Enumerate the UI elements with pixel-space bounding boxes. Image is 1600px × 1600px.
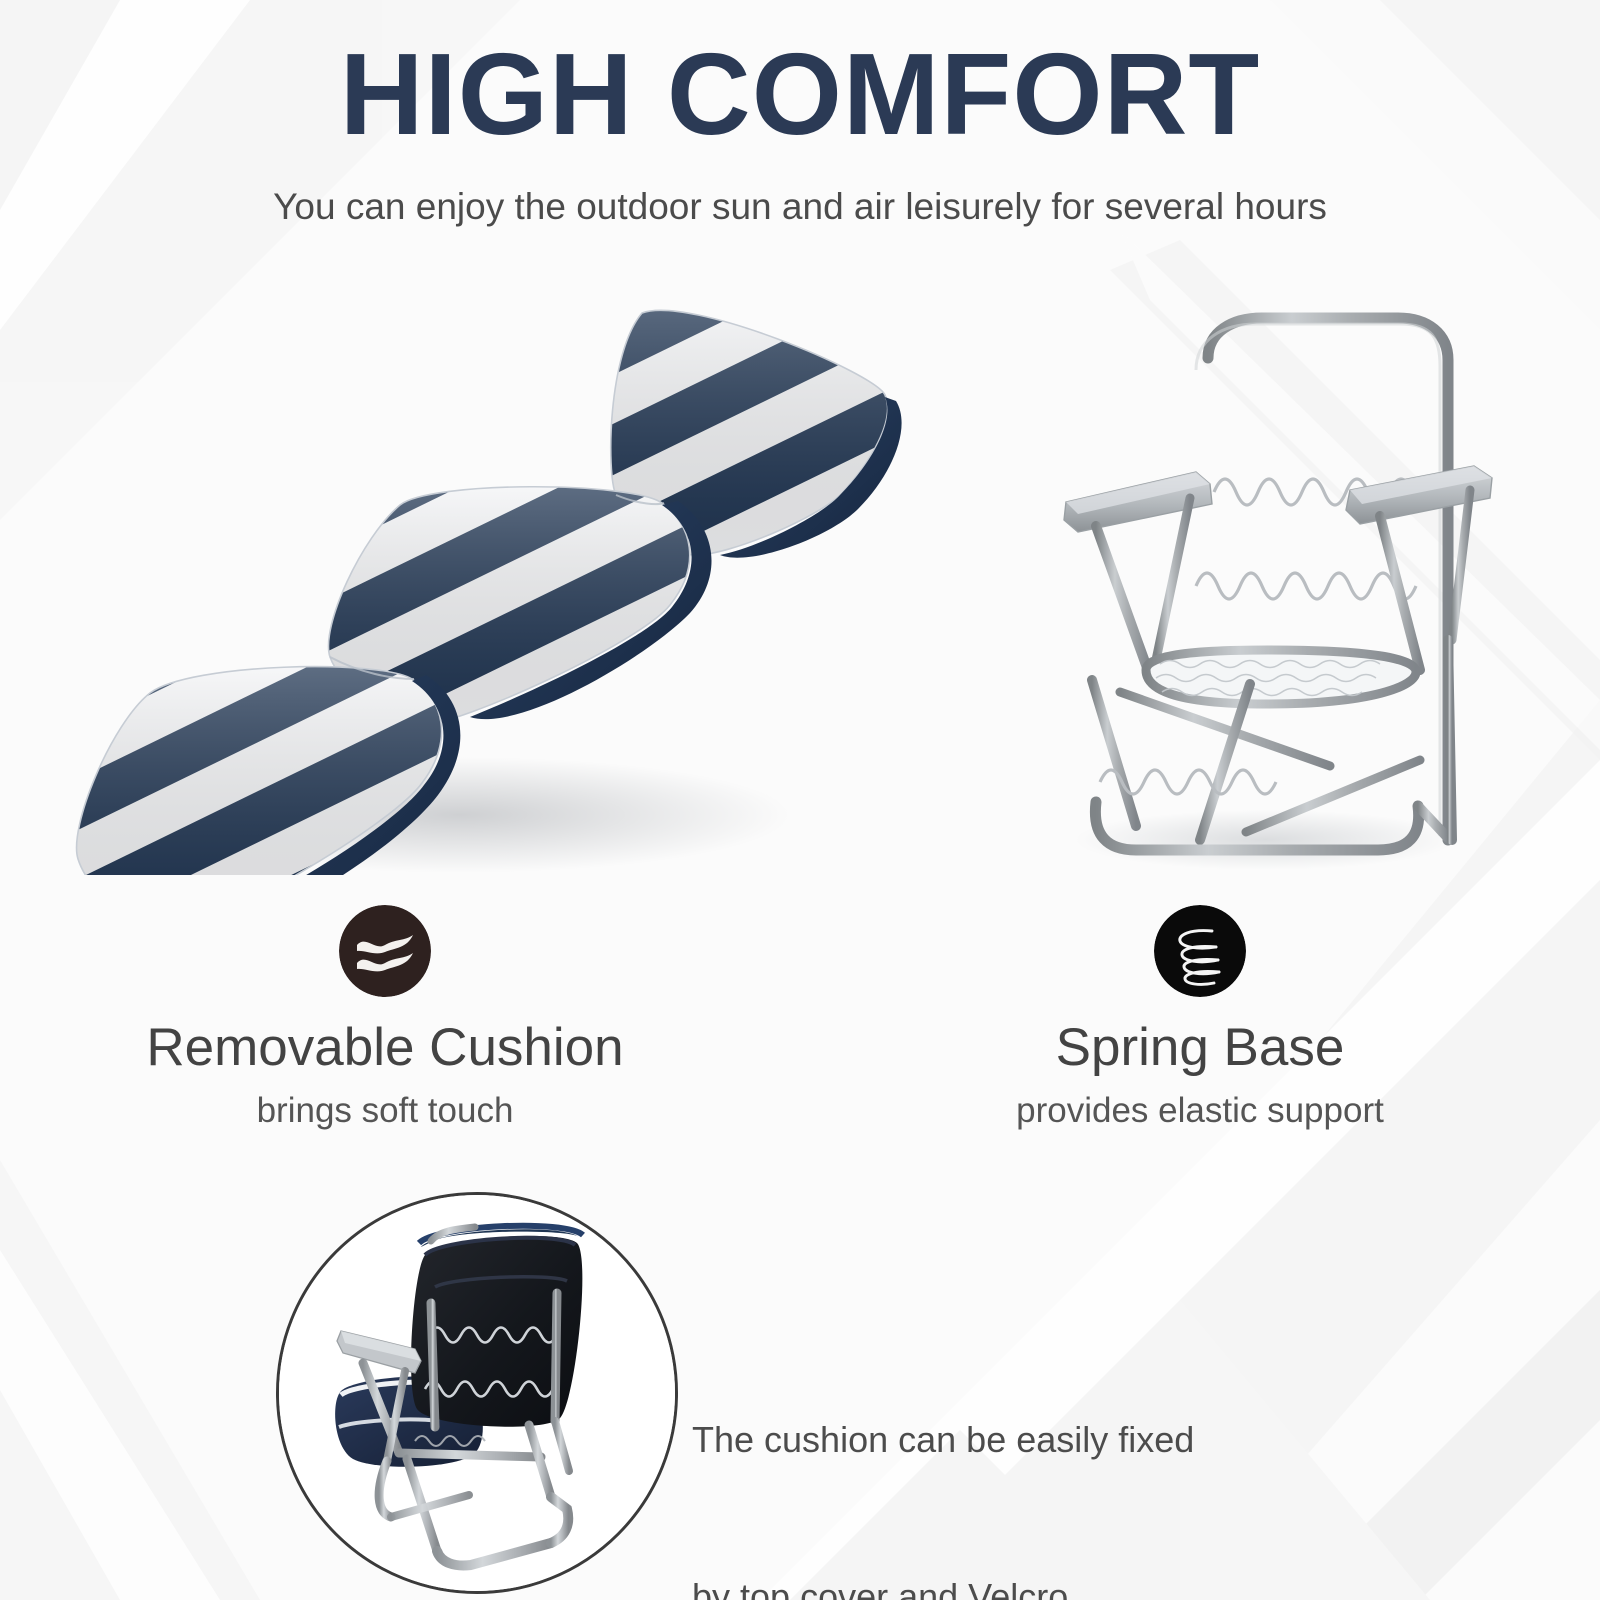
chair-photo xyxy=(1000,240,1520,880)
cushion-photo xyxy=(30,255,930,875)
inset-photo-circle xyxy=(276,1192,678,1594)
feature-removable-cushion: Removable Cushion brings soft touch xyxy=(85,905,685,1132)
folding-chair-illustration xyxy=(1000,240,1520,880)
striped-cushion-illustration xyxy=(30,255,930,875)
wave-icon xyxy=(339,905,431,997)
feature-spring-base: Spring Base provides elastic support xyxy=(900,905,1500,1132)
spring-coil-icon xyxy=(1154,905,1246,997)
seat-mesh xyxy=(1146,650,1416,704)
page-title: HIGH COMFORT xyxy=(0,34,1600,156)
product-feature-banner: HIGH COMFORT You can enjoy the outdoor s… xyxy=(0,0,1600,1600)
bottom-note-line-2: by top cover and Velcro xyxy=(692,1571,1194,1600)
feature-title: Spring Base xyxy=(900,1019,1500,1077)
feature-subtitle: brings soft touch xyxy=(85,1091,685,1131)
feature-subtitle: provides elastic support xyxy=(900,1091,1500,1131)
page-subtitle: You can enjoy the outdoor sun and air le… xyxy=(0,185,1600,229)
chair-back-with-cushion-illustration xyxy=(279,1195,675,1591)
back-spring-row-middle xyxy=(1196,573,1416,599)
feature-title: Removable Cushion xyxy=(85,1019,685,1077)
bottom-note: The cushion can be easily fixed by top c… xyxy=(692,1310,1194,1600)
bottom-note-line-1: The cushion can be easily fixed xyxy=(692,1414,1194,1466)
